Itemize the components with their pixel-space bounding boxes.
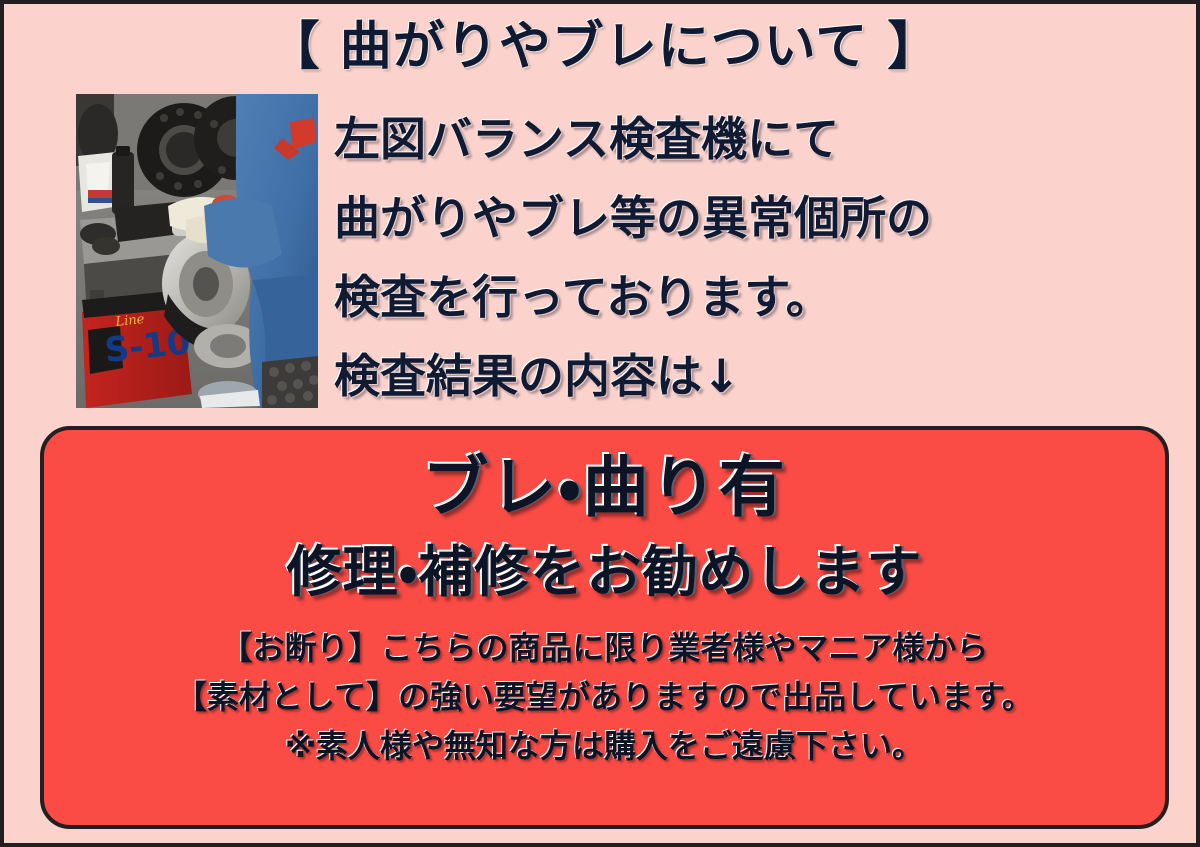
poster-root: 【 曲がりやブレについて 】 <box>0 0 1200 847</box>
intro-line-4: 検査結果の内容は↓ <box>334 337 1194 416</box>
disclaimer-line-1: 【お断り】こちらの商品に限り業者様やマニア様から <box>44 624 1165 673</box>
result-headline: ブレ・曲り有 <box>44 442 1165 534</box>
disclaimer-line-3: ※素人様や無知な方は購入をご遠慮下さい。 <box>44 722 1165 771</box>
page-title: 【 曲がりやブレについて 】 <box>4 12 1200 82</box>
intro-line-3: 検査を行っております。 <box>334 258 1194 337</box>
intro-line-2: 曲がりやブレ等の異常個所の <box>334 179 1194 258</box>
intro-line-1: 左図バランス検査機にて <box>334 100 1194 179</box>
result-subline: 修理・補修をお勧めします <box>44 534 1165 610</box>
photo-illustration: Line S-10 <box>76 94 318 408</box>
inspection-result-box: ブレ・曲り有 修理・補修をお勧めします 【お断り】こちらの商品に限り業者様やマニ… <box>40 426 1169 829</box>
intro-paragraph: 左図バランス検査機にて 曲がりやブレ等の異常個所の 検査を行っております。 検査… <box>334 100 1194 416</box>
wheel-balancer-photo: Line S-10 <box>76 94 318 408</box>
disclaimer-block: 【お断り】こちらの商品に限り業者様やマニア様から 【素材として】の強い要望があり… <box>44 624 1165 771</box>
disclaimer-line-2: 【素材として】の強い要望がありますので出品しています。 <box>44 673 1165 722</box>
